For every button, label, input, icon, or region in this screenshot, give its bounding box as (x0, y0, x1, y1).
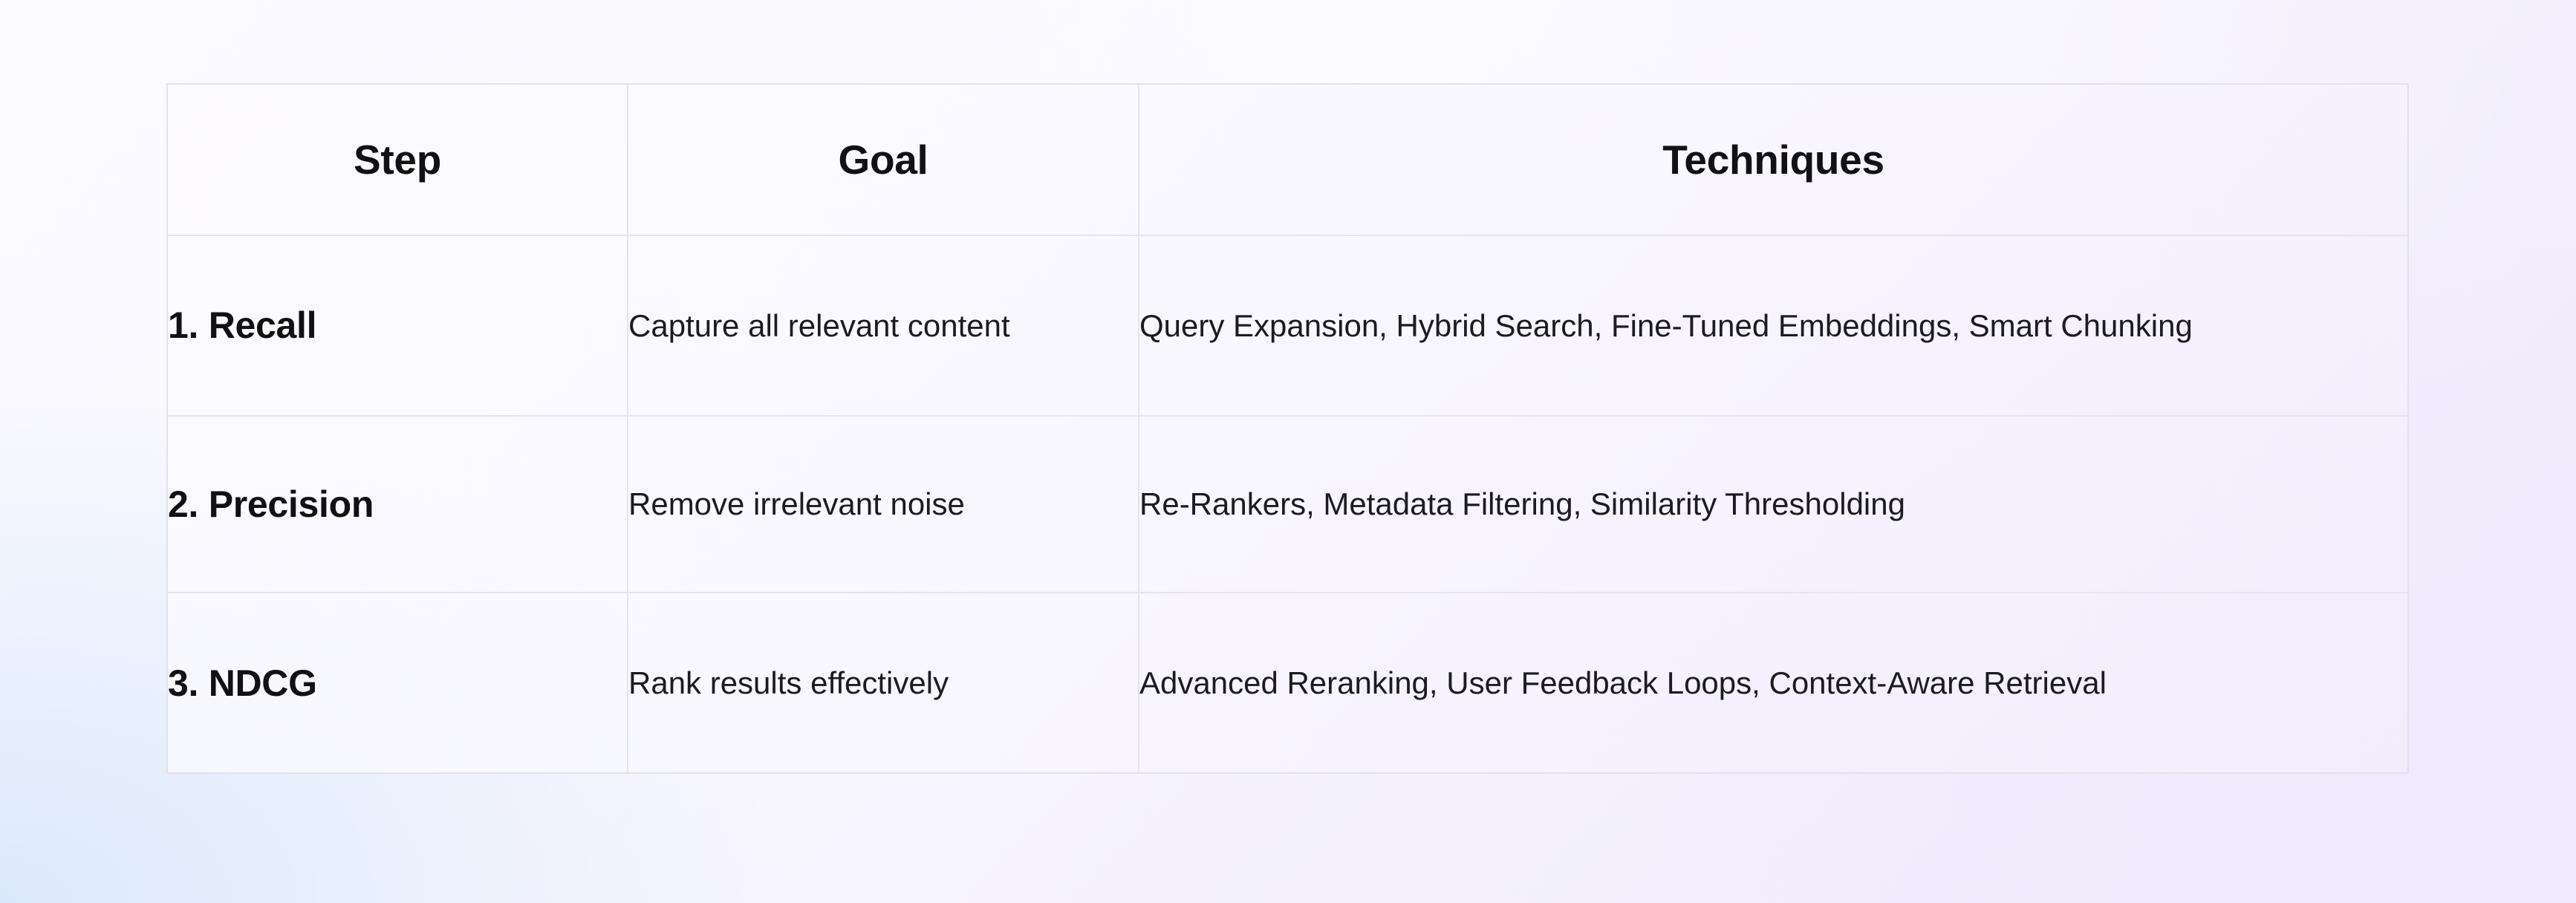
column-header-step: Step (168, 85, 628, 235)
column-header-goal: Goal (628, 85, 1139, 235)
cell-techniques-ndcg: Advanced Reranking, User Feedback Loops,… (1139, 593, 2407, 772)
cell-step-recall: 1. Recall (168, 235, 628, 416)
retrieval-quality-steps-table: Step Goal Techniques 1. Recall Capture a… (166, 83, 2409, 774)
cell-goal-ndcg: Rank results effectively (628, 593, 1139, 772)
cell-goal-recall: Capture all relevant content (628, 235, 1139, 416)
page-canvas: Step Goal Techniques 1. Recall Capture a… (0, 0, 2576, 903)
cell-goal-precision: Remove irrelevant noise (628, 416, 1139, 593)
table-grid: Step Goal Techniques 1. Recall Capture a… (168, 85, 2407, 772)
table-header-row: Step Goal Techniques (168, 85, 2407, 235)
table-header: Step Goal Techniques (168, 85, 2407, 235)
column-header-techniques: Techniques (1139, 85, 2407, 235)
table-row: 2. Precision Remove irrelevant noise Re-… (168, 416, 2407, 593)
cell-step-ndcg: 3. NDCG (168, 593, 628, 772)
cell-step-precision: 2. Precision (168, 416, 628, 593)
cell-techniques-precision: Re-Rankers, Metadata Filtering, Similari… (1139, 416, 2407, 593)
cell-techniques-recall: Query Expansion, Hybrid Search, Fine-Tun… (1139, 235, 2407, 416)
table-row: 3. NDCG Rank results effectively Advance… (168, 593, 2407, 772)
table-body: 1. Recall Capture all relevant content Q… (168, 235, 2407, 772)
table-row: 1. Recall Capture all relevant content Q… (168, 235, 2407, 416)
